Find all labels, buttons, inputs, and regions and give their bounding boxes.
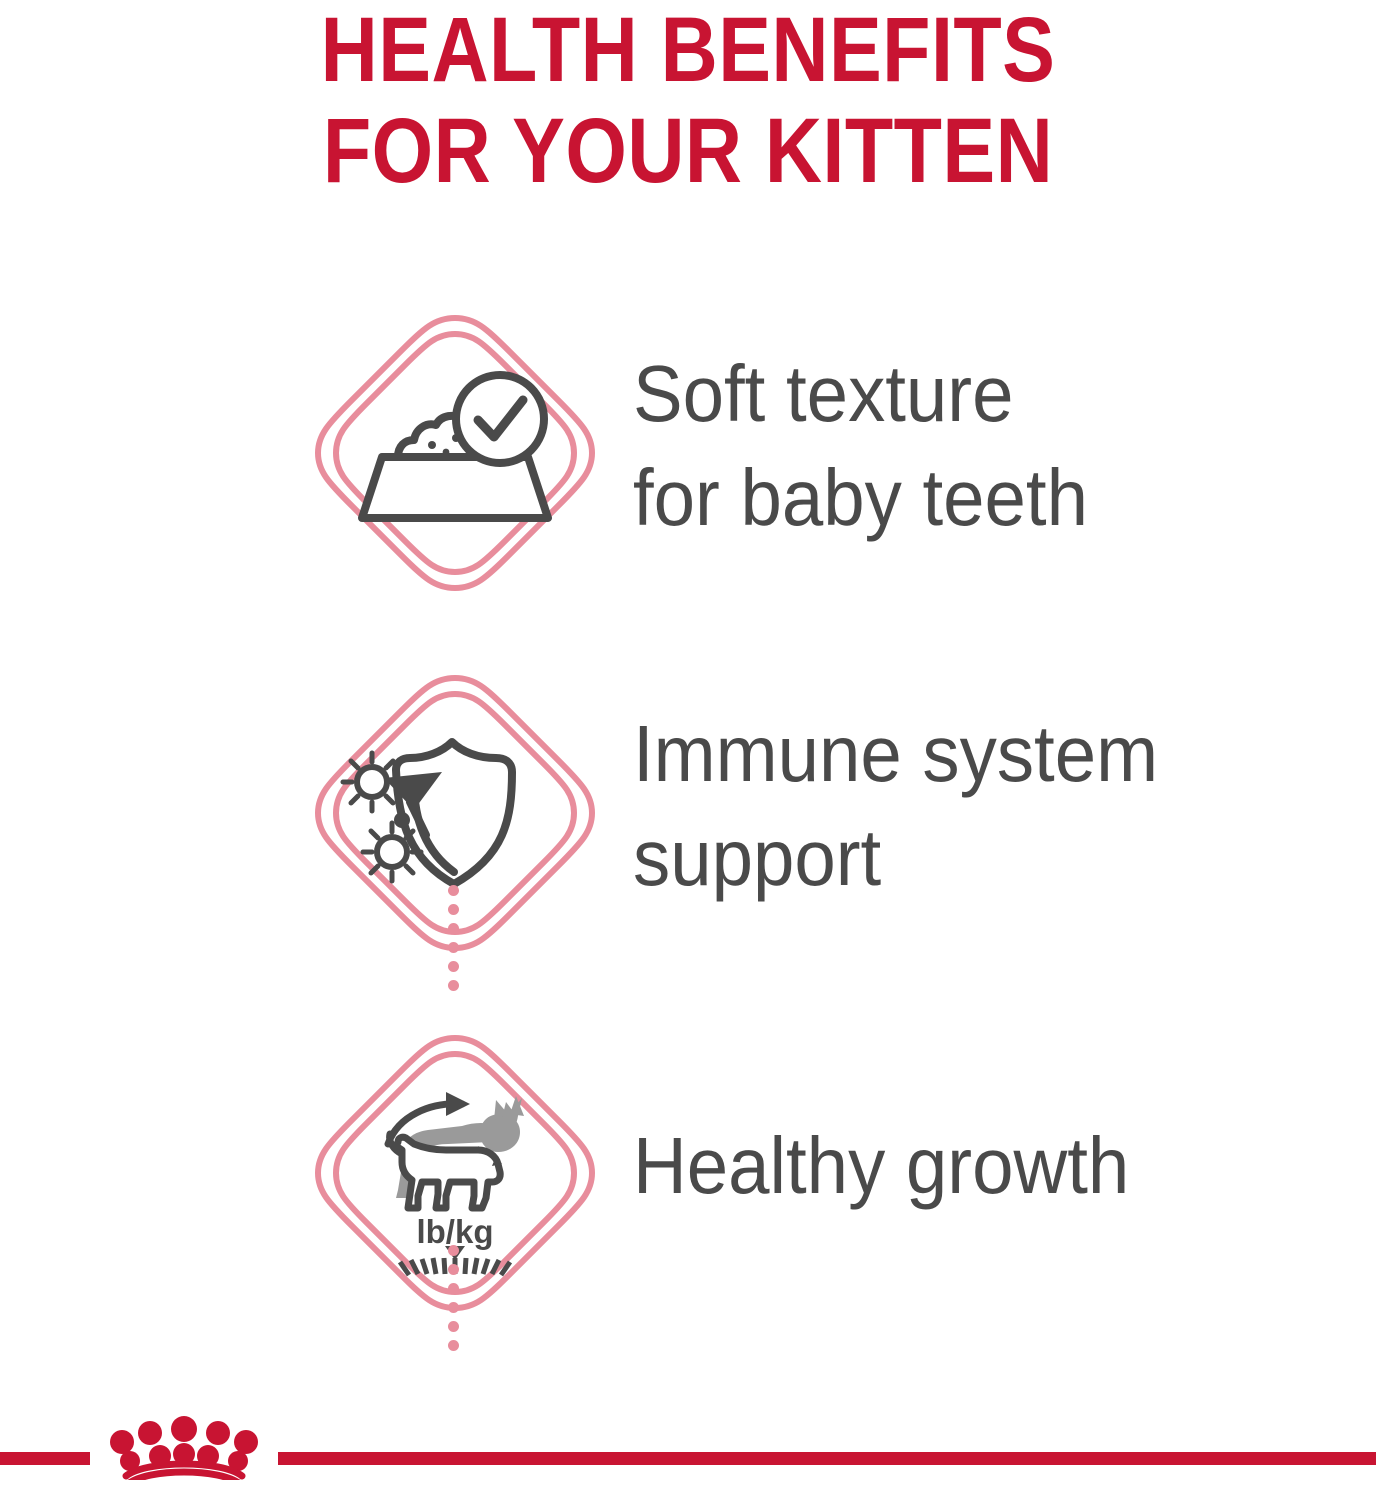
connector-dot	[448, 1245, 459, 1256]
footer	[0, 1400, 1376, 1500]
connector-dot	[448, 923, 459, 934]
benefit-label: Healthy growth	[633, 1114, 1284, 1218]
royal-canin-crown-logo	[98, 1414, 270, 1480]
page-title-line-2: FOR YOUR KITTEN	[96, 101, 1279, 202]
food-bowl-check-icon	[310, 310, 600, 595]
page-title-line-1: HEALTH BENEFITS	[96, 0, 1279, 101]
connector-dot	[448, 1283, 459, 1294]
benefit-label: Soft texture for baby teeth	[633, 342, 1284, 550]
connector-dot	[448, 961, 459, 972]
connector-dot	[448, 904, 459, 915]
benefit-label-line-1: Healthy growth	[633, 1114, 1284, 1218]
connector-dot	[448, 1264, 459, 1275]
benefit-row: Soft texture for baby teeth	[0, 300, 1376, 600]
connector-dots	[0, 1245, 1376, 1355]
connector-dot	[448, 885, 459, 896]
page-title: HEALTH BENEFITS FOR YOUR KITTEN	[96, 0, 1279, 202]
benefit-label-line-2: for baby teeth	[633, 446, 1284, 550]
connector-dot	[448, 942, 459, 953]
connector-dot	[448, 980, 459, 991]
benefit-label-line-1: Immune system	[633, 702, 1284, 806]
footer-rule-right	[278, 1452, 1376, 1465]
connector-dot	[448, 1340, 459, 1351]
connector-dot	[448, 1321, 459, 1332]
connector-dots	[0, 885, 1376, 995]
connector-dot	[448, 1302, 459, 1313]
benefit-label: Immune system support	[633, 702, 1284, 910]
footer-rule-left	[0, 1452, 90, 1465]
benefit-label-line-1: Soft texture	[633, 342, 1284, 446]
